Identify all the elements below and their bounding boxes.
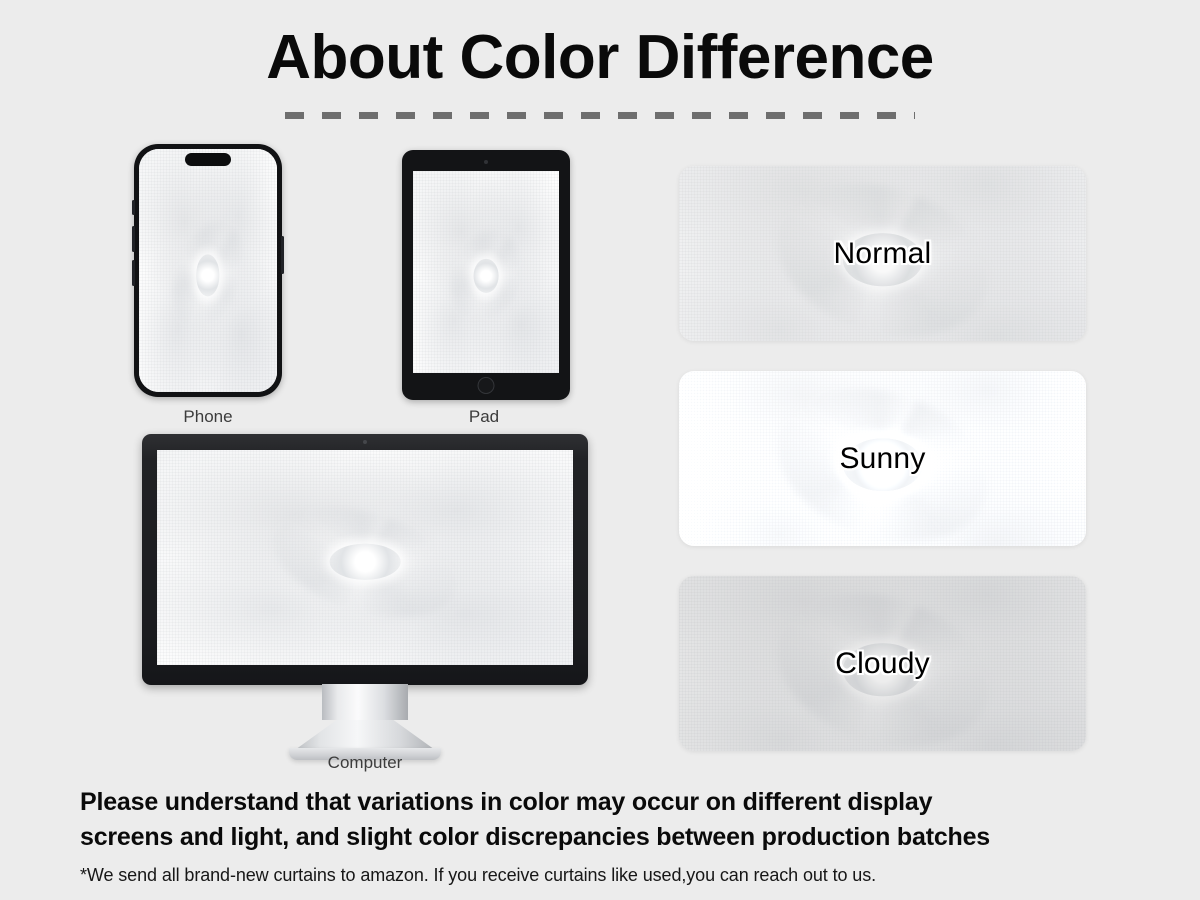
disclaimer-line-1: Please understand that variations in col…	[80, 785, 1140, 820]
lighting-panel-label-cloudy: Cloudy	[679, 647, 1086, 681]
disclaimer-note: *We send all brand-new curtains to amazo…	[80, 863, 1140, 887]
front-camera-icon	[484, 160, 488, 164]
home-button-icon	[478, 377, 495, 394]
footer-disclaimer: Please understand that variations in col…	[80, 785, 1140, 887]
phone-power-button-icon	[281, 236, 284, 274]
device-label-phone: Phone	[128, 407, 288, 427]
monitor-stand-neck	[322, 684, 408, 720]
dynamic-island-icon	[185, 153, 231, 166]
pad-mockup	[402, 150, 570, 400]
lighting-panel-label-sunny: Sunny	[679, 442, 1086, 476]
phone-mockup	[134, 144, 282, 397]
monitor-bezel	[142, 434, 588, 685]
phone-mute-button-icon	[132, 200, 135, 215]
lighting-panel-sunny: Sunny	[679, 371, 1086, 546]
monitor-screen	[157, 450, 573, 665]
dashed-divider	[285, 112, 915, 119]
page-title: About Color Difference	[0, 22, 1200, 94]
lighting-panel-cloudy: Cloudy	[679, 576, 1086, 751]
fabric-swatch-image	[157, 450, 573, 665]
computer-mockup	[142, 434, 588, 758]
lighting-panel-normal: Normal	[679, 166, 1086, 341]
pad-screen	[413, 171, 559, 373]
fabric-swatch-image	[413, 171, 559, 373]
device-label-computer: Computer	[285, 753, 445, 773]
webcam-icon	[363, 440, 367, 444]
phone-volume-up-icon	[132, 226, 135, 252]
phone-screen	[139, 149, 277, 392]
fabric-swatch-image	[139, 149, 277, 392]
disclaimer-line-2: screens and light, and slight color disc…	[80, 820, 1140, 855]
lighting-panel-label-normal: Normal	[679, 237, 1086, 271]
phone-volume-down-icon	[132, 260, 135, 286]
device-label-pad: Pad	[404, 407, 564, 427]
